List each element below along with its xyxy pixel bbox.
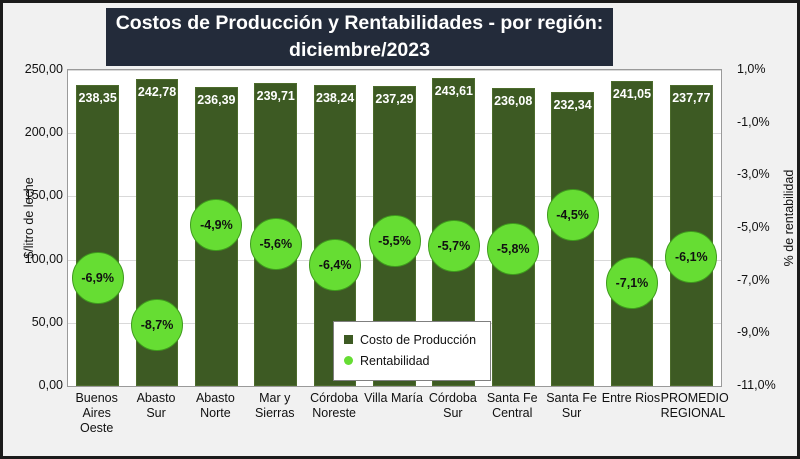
x-axis-tick-label: Mar ySierras	[245, 391, 304, 421]
rentabilidad-bubble[interactable]: -6,1%	[665, 231, 717, 283]
bar-value-label: 237,29	[374, 92, 415, 106]
chart-title: Costos de Producción y Rentabilidades - …	[106, 8, 613, 66]
chart-container: Costos de Producción y Rentabilidades - …	[0, 0, 800, 459]
chart-legend: Costo de ProducciónRentabilidad	[333, 321, 491, 381]
x-axis-category-labels: BuenosAires OesteAbasto SurAbastoNorteMa…	[67, 391, 722, 441]
x-axis-tick-label-line: Buenos	[67, 391, 126, 406]
bar-value-label: 239,71	[255, 89, 296, 103]
x-axis-tick-label: Abasto Sur	[126, 391, 185, 421]
x-axis-tick-label: PROMEDIOREGIONAL	[661, 391, 720, 421]
y-axis-left-tick-label: 50,00	[3, 315, 63, 329]
x-axis-tick-label-line: Abasto Sur	[126, 391, 185, 421]
y-axis-left-tick-label: 250,00	[3, 62, 63, 76]
x-axis-tick-label-line: Entre Rios	[601, 391, 660, 406]
x-axis-tick-label: Entre Rios	[601, 391, 660, 406]
rentabilidad-bubble[interactable]: -5,5%	[369, 215, 421, 267]
x-axis-tick-label-line: Córdoba	[304, 391, 363, 406]
rentabilidad-bubble[interactable]: -4,5%	[547, 189, 599, 241]
bar-value-label: 237,77	[671, 91, 712, 105]
legend-item[interactable]: Rentabilidad	[344, 350, 476, 371]
rentabilidad-bubble[interactable]: -6,9%	[72, 252, 124, 304]
x-axis-tick-label: Córdoba Sur	[423, 391, 482, 421]
legend-item[interactable]: Costo de Producción	[344, 329, 476, 350]
y-axis-right-tick-label: -11,0%	[737, 378, 797, 392]
bar[interactable]: 238,35	[76, 85, 119, 386]
x-axis-tick-label-line: Norte	[186, 406, 245, 421]
y-axis-left-tick-label: 0,00	[3, 378, 63, 392]
x-axis-tick-label: CórdobaNoreste	[304, 391, 363, 421]
x-axis-tick-label-line: Mar y	[245, 391, 304, 406]
circle-swatch-icon	[344, 356, 353, 365]
bar[interactable]: 241,05	[611, 81, 654, 386]
bar-value-label: 242,78	[137, 85, 178, 99]
x-axis-tick-label-line: Santa Fe Sur	[542, 391, 601, 421]
x-axis-tick-label: Santa FeCentral	[483, 391, 542, 421]
y-axis-right-title: % de rentabilidad	[782, 138, 796, 298]
rentabilidad-bubble[interactable]: -5,8%	[487, 223, 539, 275]
bar-value-label: 238,35	[77, 91, 118, 105]
x-axis-tick-label-line: Sierras	[245, 406, 304, 421]
rentabilidad-bubble[interactable]: -5,6%	[250, 218, 302, 270]
gridline	[68, 70, 721, 71]
x-axis-tick-label-line: Villa María	[364, 391, 423, 406]
bar-value-label: 241,05	[612, 87, 653, 101]
x-axis-tick-label: Villa María	[364, 391, 423, 406]
x-axis-tick-label-line: Noreste	[304, 406, 363, 421]
x-axis-tick-label-line: REGIONAL	[661, 406, 720, 421]
bar-value-label: 232,34	[552, 98, 593, 112]
x-axis-tick-label-line: Córdoba Sur	[423, 391, 482, 421]
square-swatch-icon	[344, 335, 353, 344]
chart-title-line-2: diciembre/2023	[116, 37, 604, 64]
x-axis-tick-label: AbastoNorte	[186, 391, 245, 421]
bar-value-label: 238,24	[315, 91, 356, 105]
rentabilidad-bubble[interactable]: -6,4%	[309, 239, 361, 291]
x-axis-tick-label-line: Central	[483, 406, 542, 421]
y-axis-left-title: $/litro de leche	[22, 138, 36, 298]
y-axis-right-tick-label: 1,0%	[737, 62, 797, 76]
rentabilidad-bubble[interactable]: -5,7%	[428, 220, 480, 272]
chart-title-line-1: Costos de Producción y Rentabilidades - …	[116, 10, 604, 37]
bar-value-label: 236,39	[196, 93, 237, 107]
bar-value-label: 236,08	[493, 94, 534, 108]
bar-value-label: 243,61	[433, 84, 474, 98]
x-axis-tick-label-line: Abasto	[186, 391, 245, 406]
legend-item-label: Rentabilidad	[360, 354, 430, 368]
y-axis-right-tick-label: -1,0%	[737, 115, 797, 129]
y-axis-right-tick-label: -9,0%	[737, 325, 797, 339]
rentabilidad-bubble[interactable]: -7,1%	[606, 257, 658, 309]
legend-item-label: Costo de Producción	[360, 333, 476, 347]
x-axis-tick-label: BuenosAires Oeste	[67, 391, 126, 436]
x-axis-tick-label: Santa Fe Sur	[542, 391, 601, 421]
x-axis-tick-label-line: Aires Oeste	[67, 406, 126, 436]
x-axis-tick-label-line: Santa Fe	[483, 391, 542, 406]
x-axis-tick-label-line: PROMEDIO	[661, 391, 720, 406]
